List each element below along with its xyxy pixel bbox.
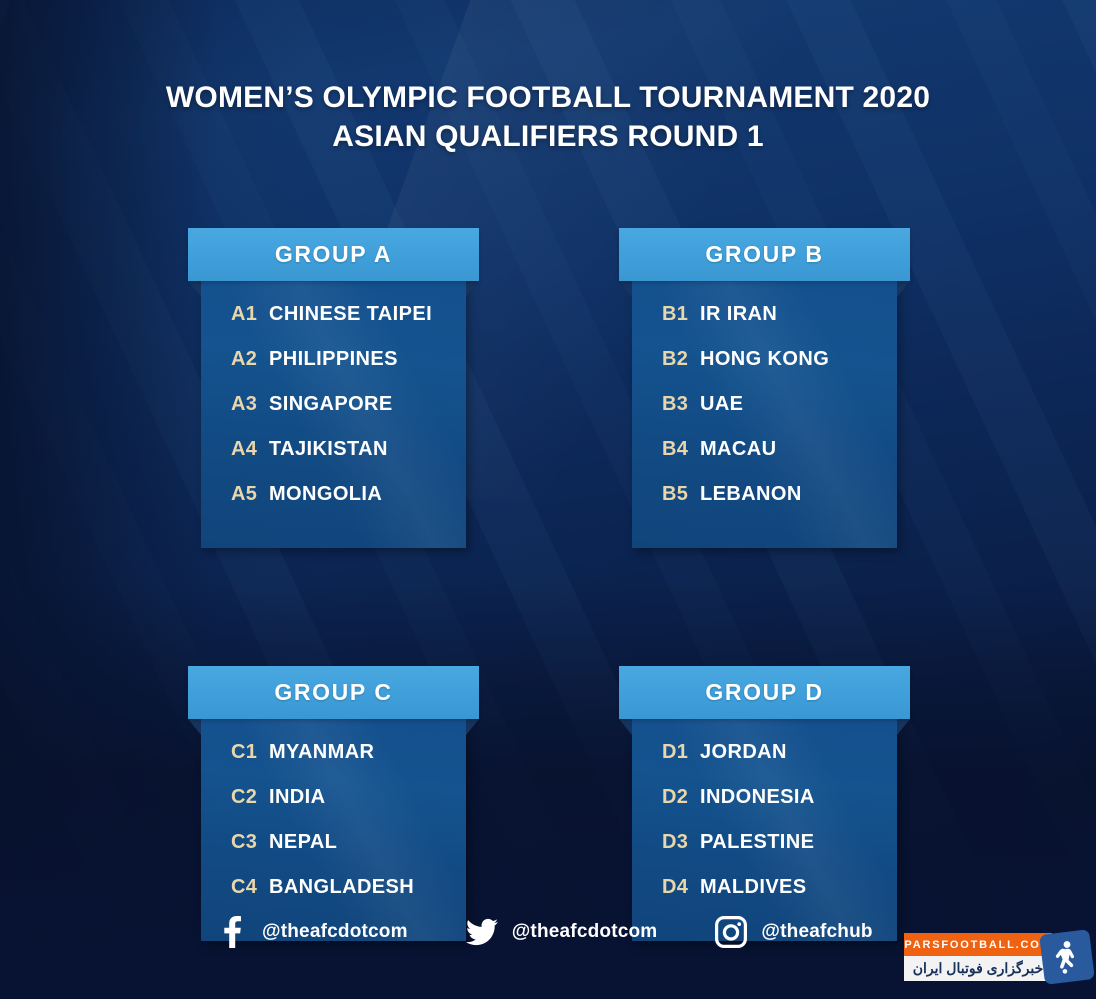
- table-row: B5 LEBANON: [632, 483, 897, 528]
- table-row: D3 PALESTINE: [632, 831, 897, 876]
- team-name: INDIA: [269, 786, 325, 809]
- parsfootball-site-text: PARSFOOTBALL.COM: [904, 939, 1051, 951]
- team-name: MACAU: [700, 438, 776, 461]
- parsfootball-watermark[interactable]: PARSFOOTBALL.COM خبرگزاری فوتبال ایران: [904, 933, 1096, 981]
- parsfootball-site-bar: PARSFOOTBALL.COM: [904, 933, 1052, 956]
- team-code: B4: [662, 438, 700, 461]
- table-row: D2 INDONESIA: [632, 786, 897, 831]
- team-code: B2: [662, 348, 700, 371]
- table-row: C1 MYANMAR: [201, 741, 466, 786]
- team-name: MONGOLIA: [269, 483, 382, 506]
- groups-row-top: GROUP A A1 CHINESE TAIPEI A2 PHILIPPINES…: [188, 228, 910, 548]
- team-code: A5: [231, 483, 269, 506]
- parsfootball-bars: PARSFOOTBALL.COM خبرگزاری فوتبال ایران: [904, 933, 1052, 981]
- groups-grid: GROUP A A1 CHINESE TAIPEI A2 PHILIPPINES…: [188, 228, 910, 941]
- team-name: PALESTINE: [700, 831, 814, 854]
- parsfootball-tagline-text: خبرگزاری فوتبال ایران: [913, 960, 1044, 977]
- table-row: B2 HONG KONG: [632, 348, 897, 393]
- social-twitter[interactable]: @theafcdotcom: [466, 916, 658, 948]
- group-a-fold-right: [466, 281, 479, 297]
- group-a-fold-left: [188, 281, 201, 297]
- table-row: B1 IR IRAN: [632, 303, 897, 348]
- group-d-header: GROUP D: [619, 666, 910, 719]
- table-row: A5 MONGOLIA: [201, 483, 466, 528]
- team-name: HONG KONG: [700, 348, 829, 371]
- group-a-team-list: A1 CHINESE TAIPEI A2 PHILIPPINES A3 SING…: [201, 281, 466, 548]
- table-row: A1 CHINESE TAIPEI: [201, 303, 466, 348]
- facebook-icon: [216, 916, 248, 948]
- team-code: B1: [662, 303, 700, 326]
- facebook-handle: @theafcdotcom: [262, 921, 408, 943]
- title-line-2: ASIAN QUALIFIERS ROUND 1: [0, 117, 1096, 156]
- footballer-icon: [1039, 929, 1095, 985]
- team-code: D1: [662, 741, 700, 764]
- table-row: B4 MACAU: [632, 438, 897, 483]
- group-b-title: GROUP B: [705, 241, 823, 268]
- group-c-fold-left: [188, 719, 201, 735]
- team-code: D2: [662, 786, 700, 809]
- team-name: CHINESE TAIPEI: [269, 303, 432, 326]
- team-name: LEBANON: [700, 483, 802, 506]
- group-card-a: GROUP A A1 CHINESE TAIPEI A2 PHILIPPINES…: [188, 228, 479, 548]
- social-instagram[interactable]: @theafchub: [715, 916, 872, 948]
- group-b-team-list: B1 IR IRAN B2 HONG KONG B3 UAE B4 MACAU …: [632, 281, 897, 548]
- team-code: A1: [231, 303, 269, 326]
- group-c-header: GROUP C: [188, 666, 479, 719]
- twitter-handle: @theafcdotcom: [512, 921, 658, 943]
- group-a-title: GROUP A: [275, 241, 392, 268]
- group-a-header: GROUP A: [188, 228, 479, 281]
- team-code: A3: [231, 393, 269, 416]
- team-name: TAJIKISTAN: [269, 438, 388, 461]
- team-name: SINGAPORE: [269, 393, 393, 416]
- table-row: A3 SINGAPORE: [201, 393, 466, 438]
- team-code: C3: [231, 831, 269, 854]
- table-row: C2 INDIA: [201, 786, 466, 831]
- team-code: A2: [231, 348, 269, 371]
- team-code: C2: [231, 786, 269, 809]
- group-d-fold-left: [619, 719, 632, 735]
- title-line-1: WOMEN’S OLYMPIC FOOTBALL TOURNAMENT 2020: [0, 78, 1096, 117]
- social-facebook[interactable]: @theafcdotcom: [216, 916, 408, 948]
- team-code: D3: [662, 831, 700, 854]
- group-b-fold-left: [619, 281, 632, 297]
- parsfootball-tagline-bar: خبرگزاری فوتبال ایران: [904, 956, 1052, 981]
- team-name: MYANMAR: [269, 741, 374, 764]
- table-row: C3 NEPAL: [201, 831, 466, 876]
- group-c-fold-right: [466, 719, 479, 735]
- table-row: A2 PHILIPPINES: [201, 348, 466, 393]
- table-row: B3 UAE: [632, 393, 897, 438]
- social-links: @theafcdotcom @theafcdotcom @theafchub: [216, 916, 873, 948]
- team-name: NEPAL: [269, 831, 337, 854]
- footer: @theafcdotcom @theafcdotcom @theafchub: [0, 894, 1096, 999]
- team-code: B3: [662, 393, 700, 416]
- team-name: JORDAN: [700, 741, 787, 764]
- group-d-title: GROUP D: [705, 679, 823, 706]
- team-code: C1: [231, 741, 269, 764]
- team-code: B5: [662, 483, 700, 506]
- instagram-handle: @theafchub: [761, 921, 872, 943]
- group-b-header: GROUP B: [619, 228, 910, 281]
- group-c-title: GROUP C: [274, 679, 392, 706]
- team-name: IR IRAN: [700, 303, 777, 326]
- group-card-b: GROUP B B1 IR IRAN B2 HONG KONG B3 UAE: [619, 228, 910, 548]
- table-row: A4 TAJIKISTAN: [201, 438, 466, 483]
- group-d-fold-right: [897, 719, 910, 735]
- team-code: A4: [231, 438, 269, 461]
- twitter-icon: [466, 916, 498, 948]
- team-name: INDONESIA: [700, 786, 815, 809]
- instagram-icon: [715, 916, 747, 948]
- group-b-fold-right: [897, 281, 910, 297]
- team-name: UAE: [700, 393, 743, 416]
- table-row: D1 JORDAN: [632, 741, 897, 786]
- team-name: PHILIPPINES: [269, 348, 398, 371]
- page-title: WOMEN’S OLYMPIC FOOTBALL TOURNAMENT 2020…: [0, 78, 1096, 156]
